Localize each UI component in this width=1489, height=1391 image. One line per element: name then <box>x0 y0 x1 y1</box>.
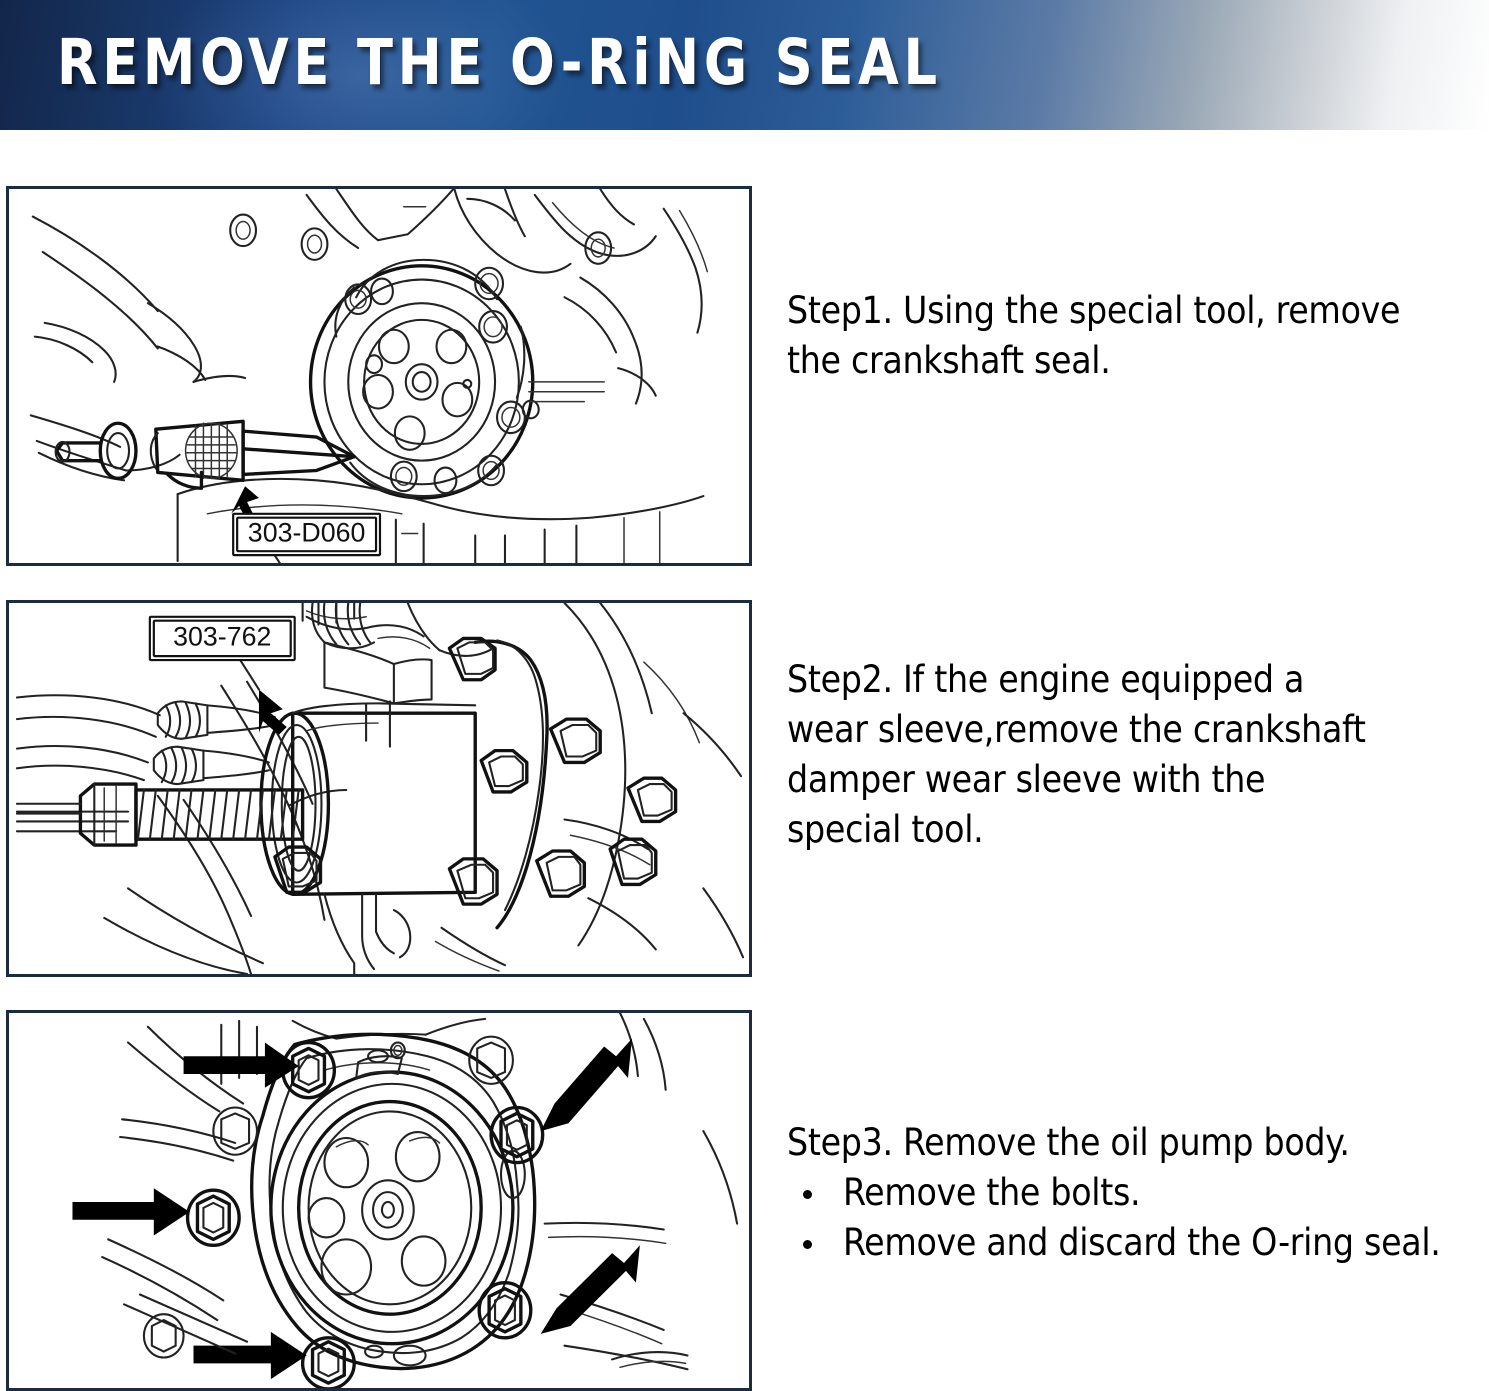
wear-sleeve-puller-collar <box>261 703 475 894</box>
engine-block-and-flange <box>324 603 741 949</box>
bullet-dot-icon <box>803 1190 812 1199</box>
bolt-top-right <box>491 1107 543 1162</box>
lower-structure-lines <box>104 888 743 974</box>
step-2-text-block: Step2. If the engine equipped a wear sle… <box>787 655 1477 855</box>
step-row-1: 303-D060 Step1. Using the special tool, … <box>0 186 1489 566</box>
bolt-secondary-upper-left <box>213 1107 257 1154</box>
step-2-line-3: damper wear sleeve with the <box>787 755 1477 805</box>
tool-label-text: 303-762 <box>173 621 271 651</box>
arrow-to-top-left-bolt <box>184 1043 299 1088</box>
step-row-3: Step3. Remove the oil pump body. Remove … <box>0 1010 1489 1391</box>
tool-label-text: 303-D060 <box>248 517 366 547</box>
crankshaft-seal-removal-diagram: 303-D060 <box>9 189 749 563</box>
step-3-bullet-text: Remove and discard the O-ring seal. <box>843 1221 1441 1264</box>
wear-sleeve-removal-diagram: 303-762 <box>9 603 749 974</box>
step-3-bullet-list: Remove the bolts. Remove and discard the… <box>787 1168 1477 1268</box>
hose-ferrule-lower <box>154 747 269 784</box>
cover-right-bracket-lines <box>396 520 424 563</box>
step-2-line-1: Step2. If the engine equipped a <box>787 655 1477 705</box>
page-title: REMOVE THE O-RiNG SEAL <box>57 26 942 100</box>
figure-panel-step-3 <box>6 1010 752 1391</box>
bullet-dot-icon <box>803 1240 812 1249</box>
bolt-left <box>188 1190 240 1245</box>
tool-number-label-303-D060: 303-D060 <box>233 514 380 555</box>
bolt-bottom-right <box>479 1283 531 1338</box>
tool-knurled-grip-texture <box>186 423 238 478</box>
oil-pump-detail-features <box>356 1043 525 1366</box>
arrow-to-left-bolt <box>72 1188 189 1235</box>
drive-belt-ribs <box>312 603 374 648</box>
hose-ferrule-upper <box>158 701 275 738</box>
step-3-bullet-item: Remove and discard the O-ring seal. <box>787 1218 1477 1268</box>
step-1-line-2: the crankshaft seal. <box>787 336 1477 386</box>
step-3-bullet-text: Remove the bolts. <box>843 1171 1140 1214</box>
step-1-text-block: Step1. Using the special tool, remove th… <box>787 286 1477 386</box>
bolt-secondary-lower-left <box>144 1314 184 1357</box>
bolt-bottom-left <box>303 1338 355 1388</box>
oil-pump-body-bolts-diagram <box>9 1013 749 1388</box>
arrow-to-top-right-bolt <box>541 1039 632 1132</box>
tool-number-label-303-762: 303-762 <box>150 617 295 660</box>
figure-panel-step-1: 303-D060 <box>6 186 752 566</box>
step-3-heading: Step3. Remove the oil pump body. <box>787 1118 1477 1168</box>
step-3-bullet-item: Remove the bolts. <box>787 1168 1477 1218</box>
step-row-2: 303-762 Step2. If the engine equipped a … <box>0 600 1489 977</box>
figure-panel-step-2: 303-762 <box>6 600 752 977</box>
technician-hand <box>31 217 245 481</box>
step-2-line-4: special tool. <box>787 805 1477 855</box>
bolt-threads <box>138 790 299 839</box>
step-1-line-1: Step1. Using the special tool, remove <box>787 286 1477 336</box>
page-header-banner: REMOVE THE O-RiNG SEAL <box>0 0 1489 130</box>
step-3-text-block: Step3. Remove the oil pump body. Remove … <box>787 1118 1477 1268</box>
step-2-line-2: wear sleeve,remove the crankshaft <box>787 705 1477 755</box>
arrow-to-bottom-right-bolt <box>541 1245 640 1334</box>
arrow-to-bottom-left-bolt <box>194 1332 307 1379</box>
special-tool-slide-hammer <box>56 421 355 488</box>
oil-pump-rotor-cavity <box>271 1072 513 1344</box>
